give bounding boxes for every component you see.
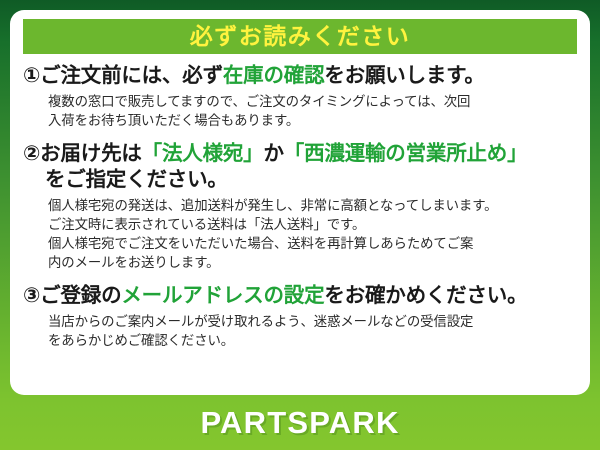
notice-headline: ③ご登録のメールアドレスの設定をお確かめください。 [23,283,577,309]
notice-item: ②お届け先は「法人様宛」か「西濃運輸の営業所止め」をご指定ください。個人様宅宛の… [23,141,577,272]
header-bar: 必ずお読みください [23,19,577,54]
notice-plain-text: をお願いします。 [324,64,484,87]
notice-headline: ①ご注文前には、必ず在庫の確認をお願いします。 [23,63,577,89]
notice-marker: ③ [23,284,40,307]
notice-plain-text: をお確かめください。 [324,284,527,307]
notice-subtext-line: をあらかじめご確認ください。 [48,331,577,350]
notice-item: ③ご登録のメールアドレスの設定をお確かめください。当店からのご案内メールが受け取… [23,283,577,350]
notice-emphasis-text: メールアドレスの設定 [121,284,324,307]
notice-plain-text: ご注文前には、必ず [40,64,223,87]
notice-subtext-line: 個人様宅宛の発送は、追加送料が発生し、非常に高額となってしまいます。 [48,196,577,215]
notice-emphasis-text: 「西濃運輸の営業所止め」 [284,142,528,165]
notice-subtext-line: ご注文時に表示されている送料は「法人送料」です。 [48,215,577,234]
brand-name: PARTSPARK [200,407,399,438]
notice-marker: ① [23,64,40,87]
notice-emphasis-text: 「法人様宛」 [142,142,264,165]
notice-subtext-line: 当店からのご案内メールが受け取れるよう、迷惑メールなどの受信設定 [48,312,577,331]
notice-plain-text: お届け先は [40,142,142,165]
notice-plain-text: か [263,142,283,165]
notice-subtext-line: 個人様宅宛でご注文をいただいた場合、送料を再計算しあらためてご案 [48,234,577,253]
notice-subtext-line: 内のメールをお送りします。 [48,253,577,272]
notice-marker: ② [23,142,40,165]
notice-headline: ②お届け先は「法人様宛」か「西濃運輸の営業所止め」 [23,141,577,167]
notice-subtext: 個人様宅宛の発送は、追加送料が発生し、非常に高額となってしまいます。ご注文時に表… [23,196,577,272]
notice-plain-text: ご登録の [40,284,121,307]
notice-list: ①ご注文前には、必ず在庫の確認をお願いします。複数の窓口で販売してますので、ご注… [23,63,577,350]
notice-subtext: 複数の窓口で販売してますので、ご注文のタイミングによっては、次回入荷をお待ち頂い… [23,92,577,130]
notice-banner: 必ずお読みください ①ご注文前には、必ず在庫の確認をお願いします。複数の窓口で販… [0,0,600,450]
notice-item: ①ご注文前には、必ず在庫の確認をお願いします。複数の窓口で販売してますので、ご注… [23,63,577,130]
notice-headline-line2: をご指定ください。 [23,167,577,193]
page-title: 必ずお読みください [190,25,411,48]
notice-subtext-line: 複数の窓口で販売してますので、ご注文のタイミングによっては、次回 [48,92,577,111]
footer-brand-bar: PARTSPARK [0,395,600,450]
notice-emphasis-text: 在庫の確認 [223,64,325,87]
notice-subtext: 当店からのご案内メールが受け取れるよう、迷惑メールなどの受信設定をあらかじめご確… [23,312,577,350]
notice-subtext-line: 入荷をお待ち頂いただく場合もあります。 [48,111,577,130]
notice-card: 必ずお読みください ①ご注文前には、必ず在庫の確認をお願いします。複数の窓口で販… [10,10,590,395]
